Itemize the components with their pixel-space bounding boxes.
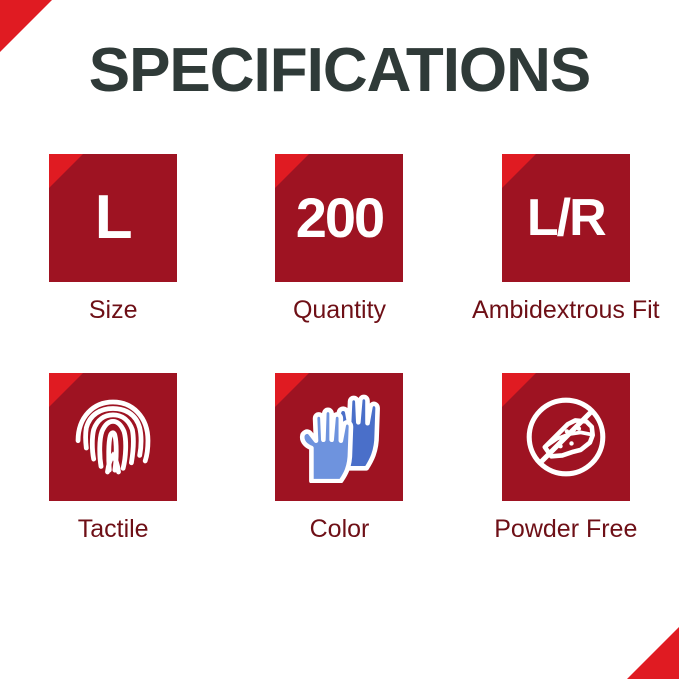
gloves-icon: [293, 391, 385, 483]
spec-tile-ambidextrous-fit: L/R: [502, 154, 630, 282]
spec-label-powder-free: Powder Free: [494, 514, 637, 544]
spec-tile-size: L: [49, 154, 177, 282]
tile-corner-accent-icon: [502, 154, 536, 188]
spec-item-quantity: 200 Quantity: [226, 154, 452, 325]
fingerprint-icon: [67, 391, 159, 483]
page-title: SPECIFICATIONS: [0, 36, 679, 106]
spec-item-color: Color: [226, 373, 452, 544]
spec-tile-color: [275, 373, 403, 501]
specifications-grid: L Size 200 Quantity L/R Ambidextrous Fit: [0, 154, 679, 544]
quantity-number-glyph: 200: [296, 190, 383, 246]
bottom-right-corner-accent: [627, 627, 679, 679]
spec-item-ambidextrous-fit: L/R Ambidextrous Fit: [453, 154, 679, 325]
spec-label-color: Color: [310, 514, 370, 544]
spec-tile-quantity: 200: [275, 154, 403, 282]
spec-item-powder-free: Powder Free: [453, 373, 679, 544]
spec-label-quantity: Quantity: [293, 295, 386, 325]
spec-item-size: L Size: [0, 154, 226, 325]
no-powder-icon: [520, 391, 612, 483]
spec-item-tactile: Tactile: [0, 373, 226, 544]
spec-label-size: Size: [89, 295, 138, 325]
left-right-glyph: L/R: [527, 192, 605, 244]
spec-tile-powder-free: [502, 373, 630, 501]
tile-corner-accent-icon: [275, 154, 309, 188]
letter-l-glyph: L: [95, 187, 132, 249]
spec-tile-tactile: [49, 373, 177, 501]
tile-corner-accent-icon: [49, 154, 83, 188]
spec-label-tactile: Tactile: [78, 514, 149, 544]
spec-label-ambidextrous-fit: Ambidextrous Fit: [472, 295, 660, 325]
specifications-page: SPECIFICATIONS L Size 200 Quantity L/R A…: [0, 0, 679, 679]
